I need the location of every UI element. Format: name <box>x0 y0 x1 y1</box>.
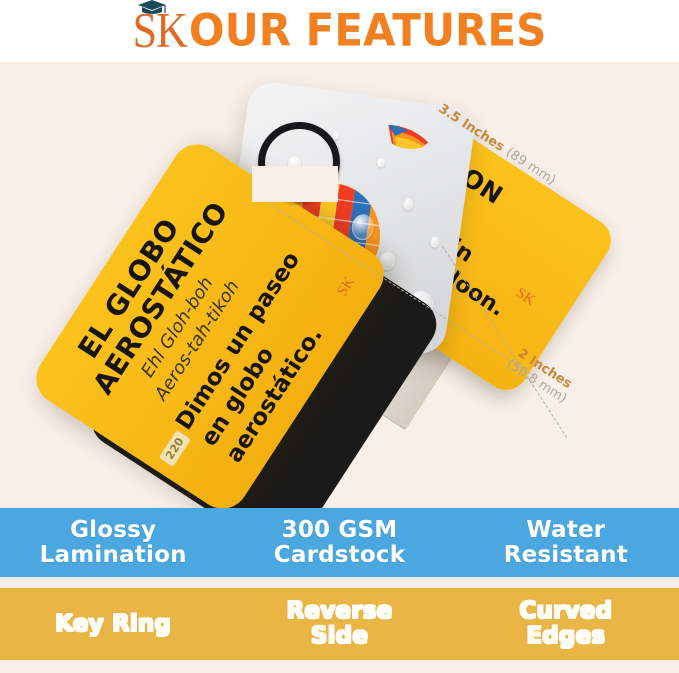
feature-300-gsm-cardstock-line1: 300 GSM <box>226 518 452 543</box>
feature-curved-edges-line2: Edges <box>453 624 679 649</box>
feature-bar-gold: Key Ring Reverse Side Curved Edges <box>0 588 679 660</box>
feature-glossy-lamination-line1: Glossy <box>0 518 226 543</box>
water-droplet <box>430 236 440 248</box>
feature-water-resistant-line1: Water <box>453 518 679 543</box>
page-title: OUR FEATURES <box>189 9 546 53</box>
key-ring-mask <box>252 166 338 202</box>
feature-key-ring-line1: Key Ring <box>0 612 226 637</box>
infographic-root: SK OUR FEATURES <box>0 0 679 673</box>
water-droplet <box>376 158 385 168</box>
brand-text: SK <box>133 9 187 54</box>
feature-key-ring: Key Ring <box>0 612 226 637</box>
feature-300-gsm-cardstock: 300 GSM Cardstock <box>226 518 452 567</box>
feature-water-resistant: Water Resistant <box>453 518 679 567</box>
water-droplet <box>403 198 415 211</box>
feature-curved-edges-line1: Curved <box>453 599 679 624</box>
feature-glossy-lamination-line2: Lamination <box>0 543 226 568</box>
feature-300-gsm-cardstock-line2: Cardstock <box>226 543 452 568</box>
feature-curved-edges: Curved Edges <box>453 599 679 648</box>
feature-reverse-side: Reverse Side <box>226 599 452 648</box>
front-card-logo: SK <box>334 274 359 299</box>
back-card-logo: SK <box>512 285 537 310</box>
front-card-number-badge: 220 <box>159 430 191 467</box>
feature-reverse-side-line2: Side <box>226 624 452 649</box>
feature-bar-blue: Glossy Lamination 300 GSM Cardstock Wate… <box>0 508 679 577</box>
feature-water-resistant-line2: Resistant <box>453 543 679 568</box>
balloon-fragment-icon <box>382 121 435 163</box>
feature-reverse-side-line1: Reverse <box>226 599 452 624</box>
product-photo-area: ALLOON Buh-lun a ride in ot air balloon.… <box>0 62 679 508</box>
brand-logo: SK <box>133 11 187 51</box>
feature-glossy-lamination: Glossy Lamination <box>0 518 226 567</box>
header-banner: SK OUR FEATURES <box>0 0 679 62</box>
